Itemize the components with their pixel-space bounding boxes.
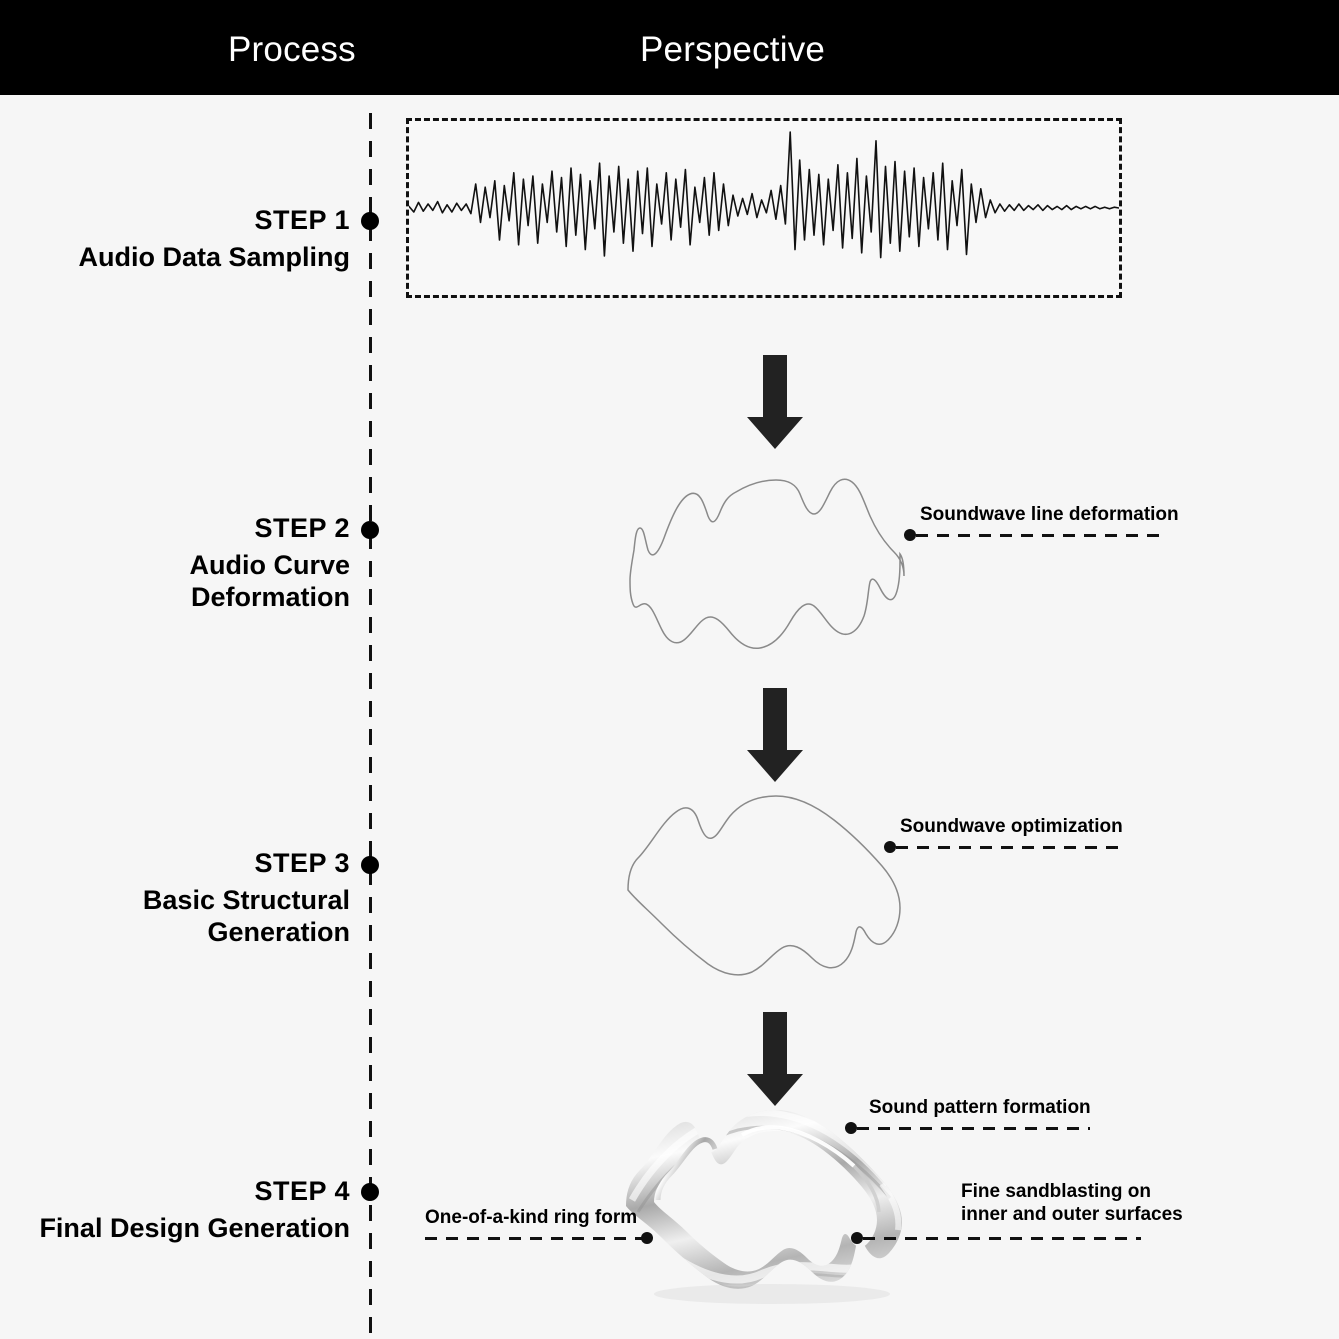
header-column-perspective: Perspective: [640, 30, 825, 70]
final-ring-render: [592, 1088, 960, 1320]
callout-leader-line: [857, 1127, 1090, 1130]
callout-label: Fine sandblasting on inner and outer sur…: [961, 1180, 1183, 1226]
callout-dot-icon: [884, 841, 896, 853]
callout-label: Soundwave line deformation: [920, 503, 1179, 526]
timeline-node-step-4: [361, 1183, 379, 1201]
header-column-process: Process: [228, 30, 356, 70]
callout-label: Soundwave optimization: [900, 815, 1123, 838]
timeline-axis: [369, 113, 372, 1339]
callout-leader-line: [896, 846, 1124, 849]
down-arrow-icon-2: [745, 688, 805, 784]
step-2-name: Audio Curve Deformation: [0, 550, 350, 614]
step-4-label: STEP 4 Final Design Generation: [0, 1177, 350, 1245]
step-3-name-line-2: Generation: [0, 917, 350, 949]
callout-dot-icon: [845, 1122, 857, 1134]
step-4-number: STEP 4: [0, 1177, 350, 1205]
step-1-name: Audio Data Sampling: [0, 242, 350, 274]
down-arrow-icon-1: [745, 355, 805, 451]
timeline-node-step-2: [361, 521, 379, 539]
step-3-number: STEP 3: [0, 849, 350, 877]
callout-dot-icon: [904, 529, 916, 541]
callout-dot-icon: [851, 1232, 863, 1244]
callout-leader-line: [425, 1237, 643, 1240]
audio-curve-deformation-shape: [600, 462, 940, 674]
step-3-label: STEP 3 Basic Structural Generation: [0, 849, 350, 949]
step-4-name: Final Design Generation: [0, 1213, 350, 1245]
step-4-name-line-1: Final Design Generation: [0, 1213, 350, 1245]
step-2-name-line-1: Audio Curve: [0, 550, 350, 582]
page-header: Process Perspective: [0, 0, 1339, 95]
step-2-number: STEP 2: [0, 514, 350, 542]
step-2-label: STEP 2 Audio Curve Deformation: [0, 514, 350, 614]
callout-label: One-of-a-kind ring form: [425, 1206, 635, 1229]
callout-leader-line: [863, 1237, 1141, 1240]
step-2-name-line-2: Deformation: [0, 582, 350, 614]
infographic-page: Process Perspective STEP 1 Audio Data Sa…: [0, 0, 1339, 1339]
callout-label: Sound pattern formation: [869, 1096, 1091, 1119]
callout-leader-line: [916, 534, 1164, 537]
timeline-node-step-3: [361, 856, 379, 874]
step-3-name-line-1: Basic Structural: [0, 885, 350, 917]
step-1-number: STEP 1: [0, 206, 350, 234]
timeline-node-step-1: [361, 212, 379, 230]
audio-waveform-panel: [406, 118, 1122, 298]
step-1-label: STEP 1 Audio Data Sampling: [0, 206, 350, 274]
step-1-name-line-1: Audio Data Sampling: [0, 242, 350, 274]
step-3-name: Basic Structural Generation: [0, 885, 350, 949]
audio-waveform-chart: [409, 121, 1119, 295]
basic-structural-generation-shape: [600, 782, 940, 994]
